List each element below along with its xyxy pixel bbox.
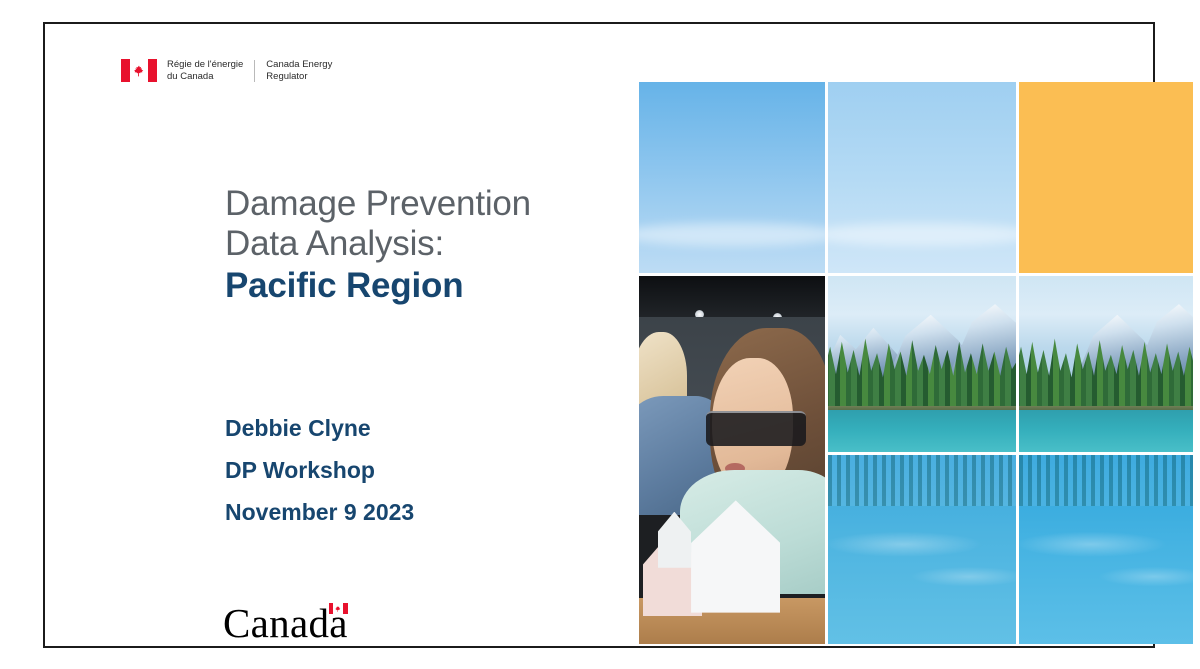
photo-collage [639, 82, 1193, 644]
signature-french-line-1: Régie de l'énergie [167, 59, 243, 71]
photo-safety-goggles [706, 411, 806, 447]
wordmark-flag-bar-right [343, 603, 348, 614]
canada-flag-icon [121, 59, 157, 82]
signature-french-line-2: du Canada [167, 71, 243, 83]
lake-water-surface [828, 410, 1016, 452]
maple-leaf-icon [335, 605, 342, 612]
title-line-2: Data Analysis: [225, 224, 625, 264]
signature-english-line-1: Canada Energy [266, 59, 332, 71]
sky-tile-left [639, 82, 825, 273]
presentation-date: November 9 2023 [225, 491, 414, 533]
lake-water-surface [1019, 410, 1193, 452]
signature-text-group: Régie de l'énergie du Canada Canada Ener… [167, 59, 332, 82]
mountain-lake-center [828, 276, 1016, 452]
presenter-name: Debbie Clyne [225, 407, 414, 449]
canada-flag-icon [329, 603, 348, 614]
signature-text-english: Canada Energy Regulator [266, 59, 332, 82]
canada-wordmark: Canada [223, 602, 348, 644]
flag-bar-right [148, 59, 157, 82]
maple-leaf-icon [133, 64, 146, 77]
flag-bar-left [121, 59, 130, 82]
title-accent-line: Pacific Region [225, 264, 625, 308]
accent-tile-orange [1019, 82, 1193, 273]
slide-frame: Régie de l'énergie du Canada Canada Ener… [43, 22, 1155, 648]
page-title: Damage Prevention Data Analysis: Pacific… [225, 184, 625, 308]
lake-water-right [1019, 455, 1193, 644]
cer-signature-logo: Régie de l'énergie du Canada Canada Ener… [121, 59, 332, 82]
title-line-1: Damage Prevention [225, 184, 625, 224]
mountain-lake-right [1019, 276, 1193, 452]
signature-english-line-2: Regulator [266, 71, 332, 83]
presentation-meta: Debbie Clyne DP Workshop November 9 2023 [225, 407, 414, 533]
wordmark-flag-bar-left [329, 603, 334, 614]
sky-tile-center [828, 82, 1016, 273]
event-name: DP Workshop [225, 449, 414, 491]
lake-water-center [828, 455, 1016, 644]
signature-text-french: Régie de l'énergie du Canada [167, 59, 243, 82]
girl-science-photo [639, 276, 825, 644]
signature-divider [254, 60, 255, 82]
slide-canvas: Régie de l'énergie du Canada Canada Ener… [0, 0, 1200, 669]
